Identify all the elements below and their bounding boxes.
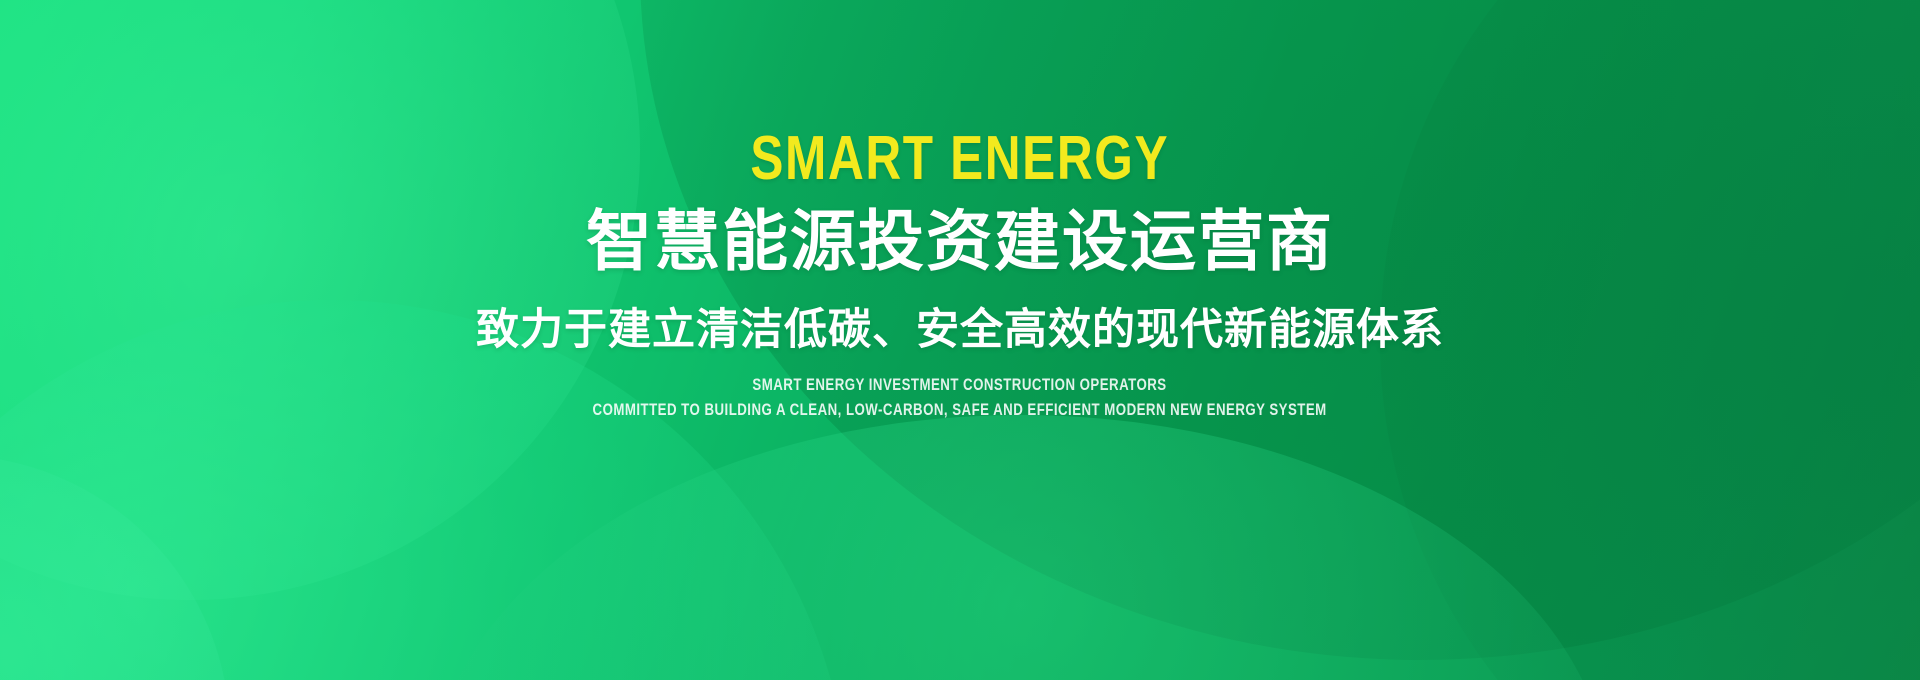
- banner-subtitle-chinese: 致力于建立清洁低碳、安全高效的现代新能源体系: [476, 304, 1444, 356]
- banner-tagline-line-1: SMART ENERGY INVESTMENT CONSTRUCTION OPE…: [753, 372, 1167, 397]
- banner-title-english: SMART ENERGY: [751, 128, 1170, 190]
- banner-tagline-line-2: COMMITTED TO BUILDING A CLEAN, LOW-CARBO…: [593, 397, 1327, 422]
- hero-banner: SMART ENERGY 智慧能源投资建设运营商 致力于建立清洁低碳、安全高效的…: [0, 0, 1920, 680]
- banner-title-chinese: 智慧能源投资建设运营商: [586, 204, 1334, 278]
- banner-tagline-group: SMART ENERGY INVESTMENT CONSTRUCTION OPE…: [489, 372, 1430, 422]
- banner-content: SMART ENERGY 智慧能源投资建设运营商 致力于建立清洁低碳、安全高效的…: [0, 0, 1920, 680]
